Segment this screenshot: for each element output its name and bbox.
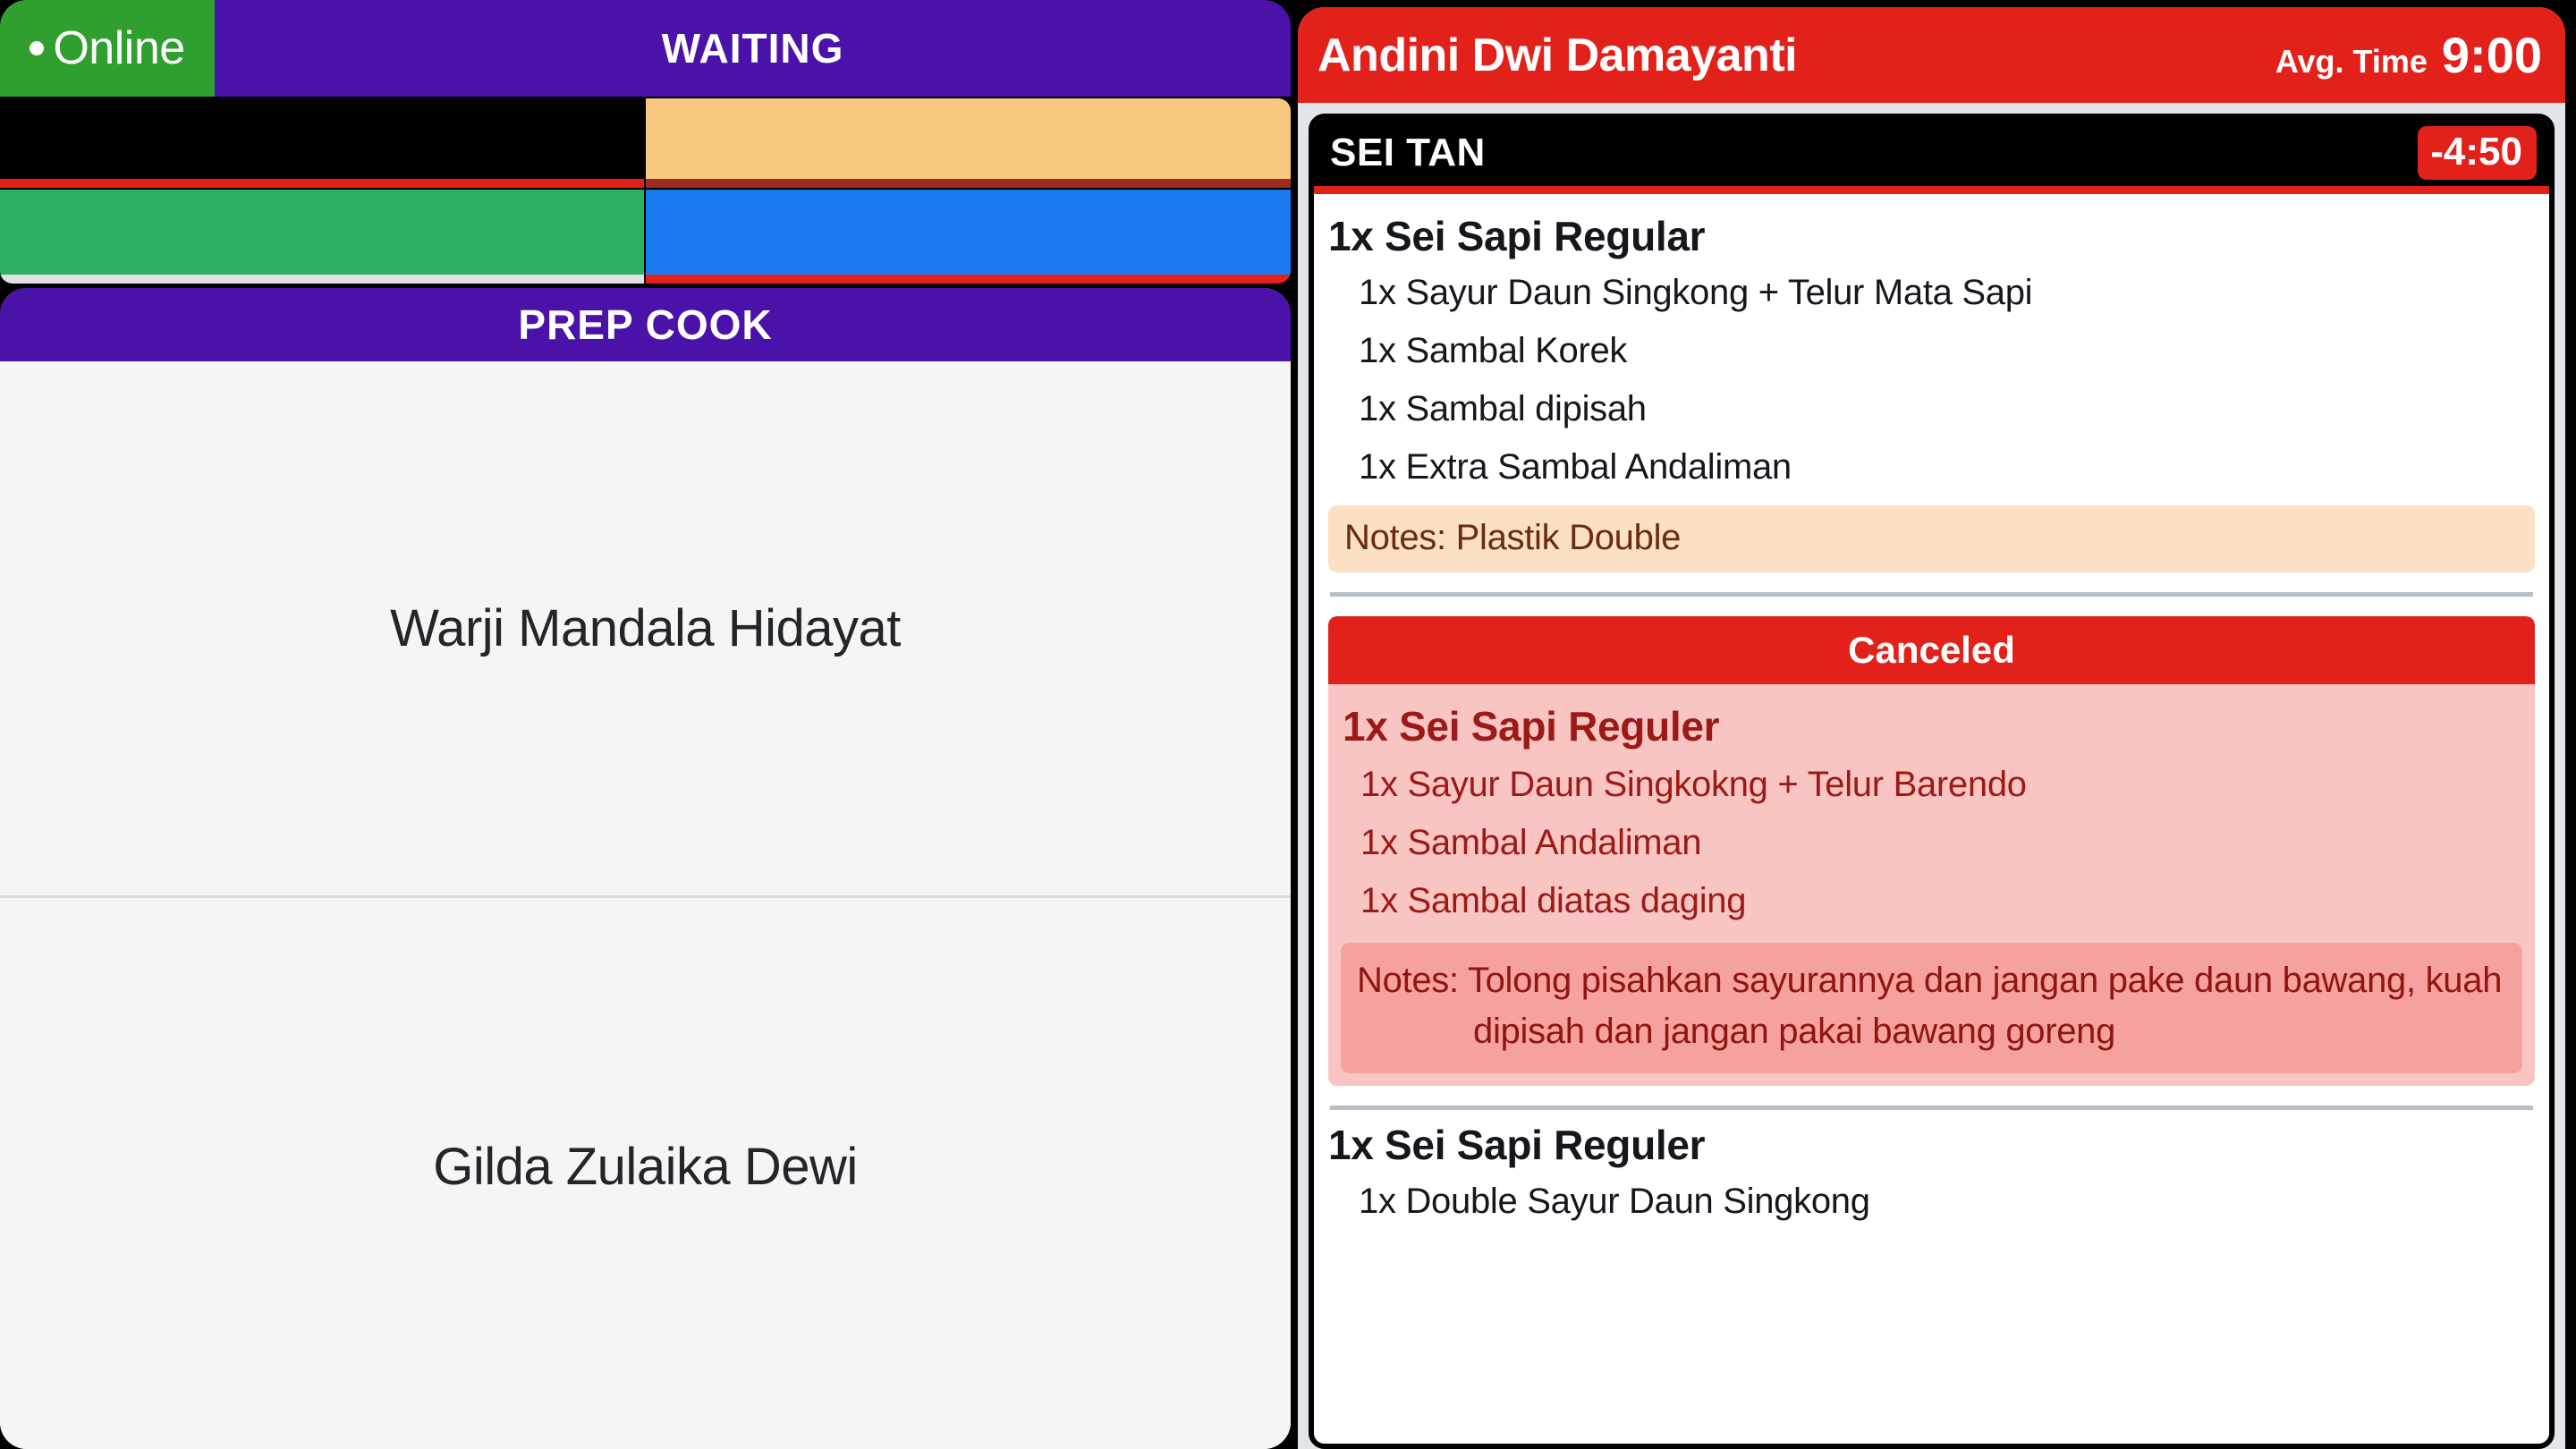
order-item[interactable]: 1x Sei Sapi Regular 1x Sayur Daun Singko… bbox=[1314, 201, 2549, 572]
order-item-modifier: 1x Double Sayur Daun Singkong bbox=[1328, 1173, 2535, 1231]
order-card[interactable]: Andini Dwi Damayanti Avg. Time 9:00 SEI … bbox=[1298, 7, 2565, 1449]
canceled-item-body: 1x Sei Sapi Reguler 1x Sayur Daun Singko… bbox=[1328, 684, 2535, 1086]
order-item-modifier: 1x Sambal Korek bbox=[1328, 322, 2535, 380]
ticket-header: SEI TAN -4:50 bbox=[1314, 119, 2549, 194]
prep-cook-panel: PREP COOK Warji Mandala Hidayat Gilda Zu… bbox=[0, 288, 1291, 1449]
status-tile-bottom-left[interactable] bbox=[0, 190, 644, 284]
canceled-status-label: Canceled bbox=[1848, 629, 2015, 672]
canceled-item-modifier: 1x Sambal Andaliman bbox=[1341, 814, 2522, 872]
ticket-timer-badge: -4:50 bbox=[2418, 126, 2537, 180]
order-item-modifier: 1x Sayur Daun Singkong + Telur Mata Sapi bbox=[1328, 264, 2535, 322]
order-item-modifier: 1x Extra Sambal Andaliman bbox=[1328, 438, 2535, 496]
order-item-title: 1x Sei Sapi Regular bbox=[1328, 207, 2535, 264]
online-status-badge[interactable]: Online bbox=[0, 0, 215, 97]
status-tile-bottom-right[interactable] bbox=[646, 190, 1291, 284]
order-item-notes: Notes: Plastik Double bbox=[1328, 505, 2535, 572]
avg-time-group: Avg. Time 9:00 bbox=[2275, 26, 2542, 84]
status-tile-grid bbox=[0, 98, 1291, 284]
status-tile-top-right[interactable] bbox=[646, 98, 1291, 188]
status-strip: Online WAITING bbox=[0, 0, 1291, 97]
list-item[interactable]: Gilda Zulaika Dewi bbox=[0, 898, 1291, 1435]
right-panel: Andini Dwi Damayanti Avg. Time 9:00 SEI … bbox=[1291, 0, 2576, 1449]
section-divider bbox=[1330, 592, 2533, 597]
station-name: SEI TAN bbox=[1330, 131, 1486, 175]
canceled-status-badge: Canceled bbox=[1328, 616, 2535, 684]
canceled-item-title: 1x Sei Sapi Reguler bbox=[1341, 693, 2522, 756]
prep-cook-list: Warji Mandala Hidayat Gilda Zulaika Dewi bbox=[0, 361, 1291, 1449]
customer-name: Andini Dwi Damayanti bbox=[1318, 29, 1797, 82]
order-item[interactable]: 1x Sei Sapi Reguler 1x Double Sayur Daun… bbox=[1314, 1110, 2549, 1231]
canceled-item-modifier: 1x Sayur Daun Singkokng + Telur Barendo bbox=[1341, 756, 2522, 814]
canceled-item-block[interactable]: Canceled 1x Sei Sapi Reguler 1x Sayur Da… bbox=[1328, 616, 2535, 1086]
prep-cook-name: Gilda Zulaika Dewi bbox=[433, 1137, 858, 1197]
order-item-modifier: 1x Sambal dipisah bbox=[1328, 380, 2535, 438]
prep-cook-name: Warji Mandala Hidayat bbox=[390, 598, 901, 658]
status-tile-top-left[interactable] bbox=[0, 98, 644, 188]
online-status-label: Online bbox=[53, 21, 184, 75]
order-body: SEI TAN -4:50 1x Sei Sapi Regular 1x Say… bbox=[1298, 103, 2565, 1449]
canceled-item-notes: Notes: Tolong pisahkan sayurannya dan ja… bbox=[1341, 943, 2522, 1073]
waiting-header: WAITING bbox=[215, 0, 1291, 97]
list-item[interactable]: Warji Mandala Hidayat bbox=[0, 361, 1291, 898]
canceled-item-notes-text: Notes: Tolong pisahkan sayurannya dan ja… bbox=[1357, 955, 2503, 1057]
order-header: Andini Dwi Damayanti Avg. Time 9:00 bbox=[1298, 7, 2565, 103]
order-item-notes-text: Notes: Plastik Double bbox=[1344, 518, 2519, 558]
avg-time-label: Avg. Time bbox=[2275, 43, 2428, 80]
ticket-items: 1x Sei Sapi Regular 1x Sayur Daun Singko… bbox=[1314, 194, 2549, 1444]
left-panel: Online WAITING bbox=[0, 0, 1291, 1449]
kds-screen: Online WAITING bbox=[0, 0, 2576, 1449]
canceled-item-modifier: 1x Sambal diatas daging bbox=[1341, 872, 2522, 930]
status-dot-icon bbox=[30, 41, 44, 55]
avg-time-value: 9:00 bbox=[2442, 26, 2542, 84]
order-item-title: 1x Sei Sapi Reguler bbox=[1328, 1115, 2535, 1173]
prep-cook-header: PREP COOK bbox=[0, 288, 1291, 361]
prep-cook-header-label: PREP COOK bbox=[518, 301, 772, 349]
order-ticket[interactable]: SEI TAN -4:50 1x Sei Sapi Regular 1x Say… bbox=[1309, 114, 2555, 1449]
waiting-header-label: WAITING bbox=[662, 24, 844, 72]
